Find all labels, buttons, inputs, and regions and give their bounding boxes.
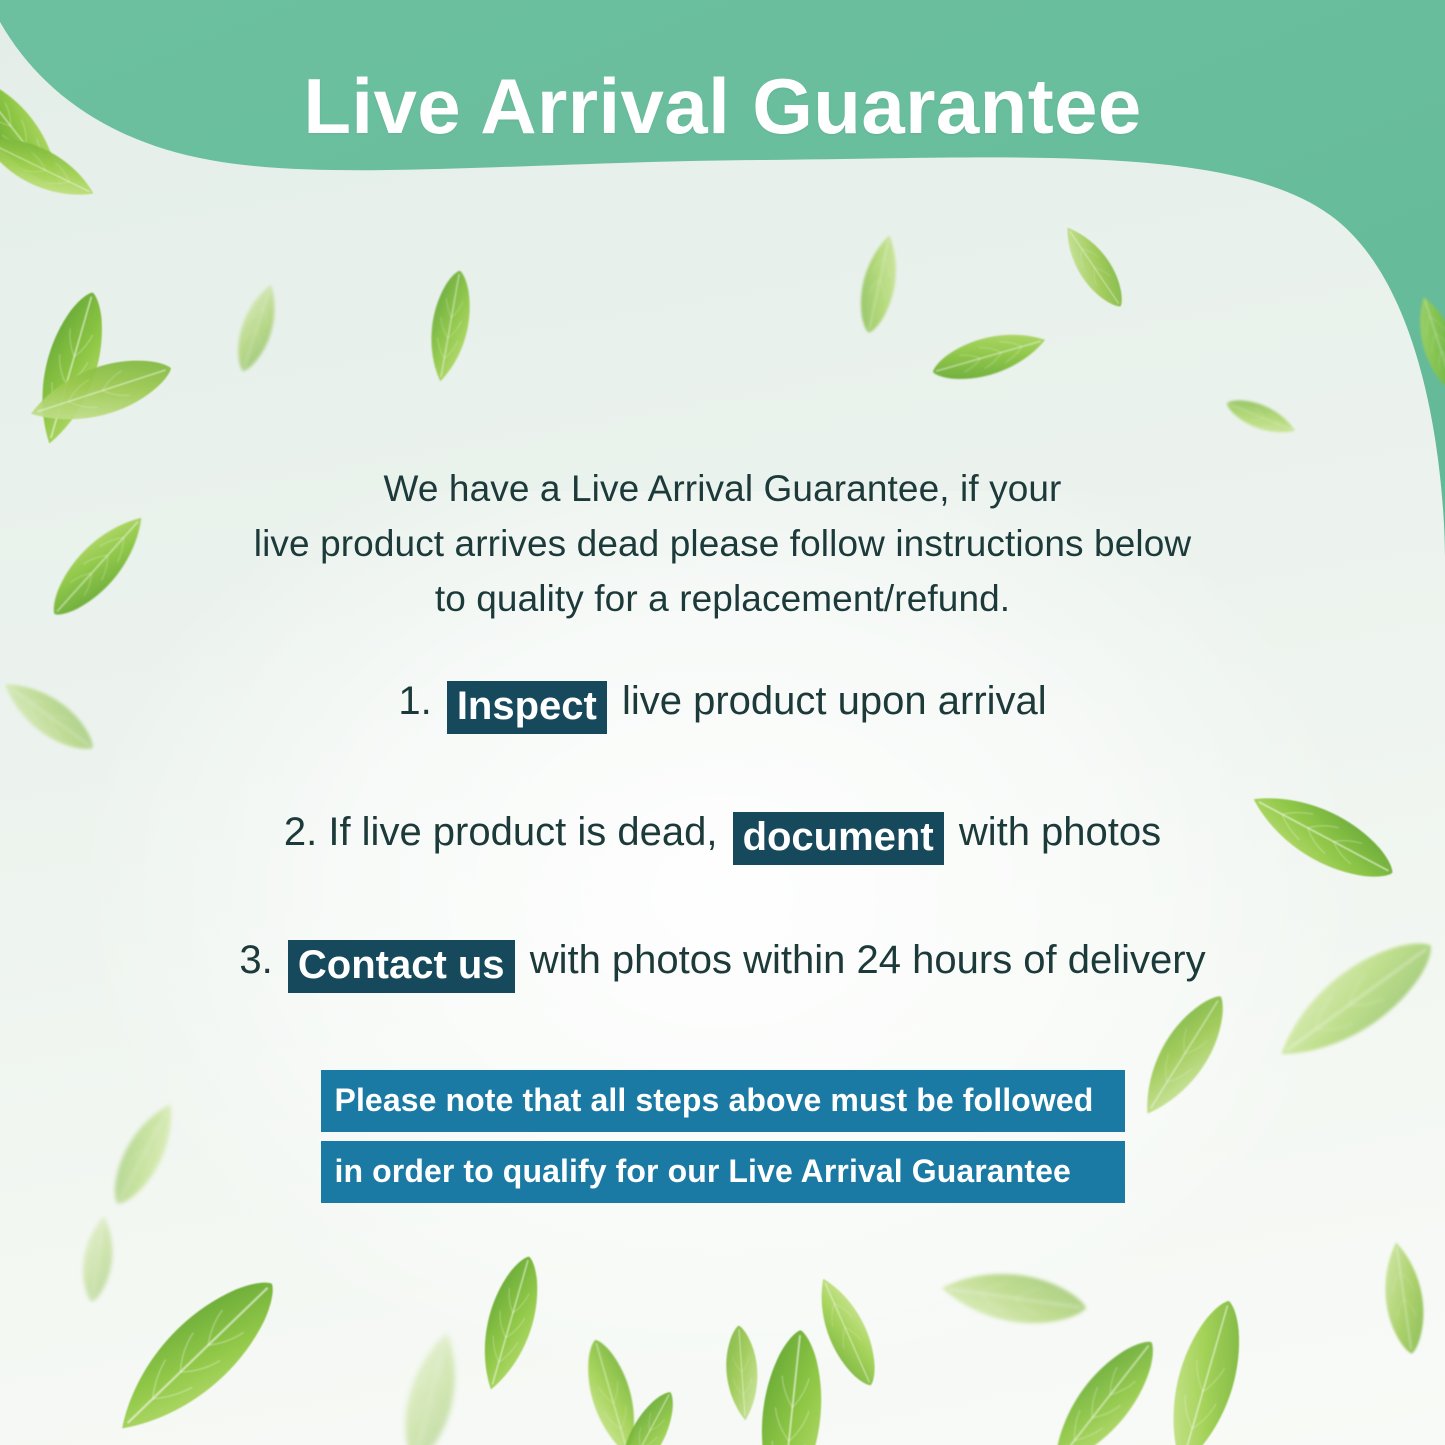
- step-highlight: Inspect: [447, 681, 607, 734]
- step-number: 1.: [398, 679, 431, 723]
- step-highlight: document: [733, 812, 944, 865]
- main-content: We have a Live Arrival Guarantee, if you…: [0, 0, 1445, 1445]
- note-banner-line-1: Please note that all steps above must be…: [321, 1070, 1125, 1132]
- step-number: 2.: [284, 810, 317, 854]
- intro-line-2: live product arrives dead please follow …: [130, 517, 1315, 572]
- step-item: 3. Contact us with photos within 24 hour…: [0, 935, 1445, 988]
- note-banner-line-2: in order to qualify for our Live Arrival…: [321, 1141, 1125, 1203]
- step-text-after: live product upon arrival: [622, 679, 1047, 723]
- step-highlight: Contact us: [288, 940, 515, 993]
- step-text-before: If live product is dead,: [328, 810, 717, 854]
- step-text-after: with photos within 24 hours of delivery: [530, 938, 1206, 982]
- notes-section: Please note that all steps above must be…: [0, 1070, 1445, 1203]
- intro-paragraph: We have a Live Arrival Guarantee, if you…: [0, 462, 1445, 626]
- live-arrival-guarantee-poster: Live Arrival Guarantee We have a Live Ar…: [0, 0, 1445, 1445]
- step-text-after: with photos: [959, 810, 1161, 854]
- intro-line-1: We have a Live Arrival Guarantee, if you…: [130, 462, 1315, 517]
- steps-list: 1. Inspect live product upon arrival 2. …: [0, 676, 1445, 988]
- intro-line-3: to quality for a replacement/refund.: [130, 572, 1315, 627]
- page-title: Live Arrival Guarantee: [0, 66, 1445, 148]
- step-item: 1. Inspect live product upon arrival: [0, 676, 1445, 729]
- step-number: 3.: [239, 938, 272, 982]
- step-item: 2. If live product is dead, document wit…: [0, 807, 1445, 860]
